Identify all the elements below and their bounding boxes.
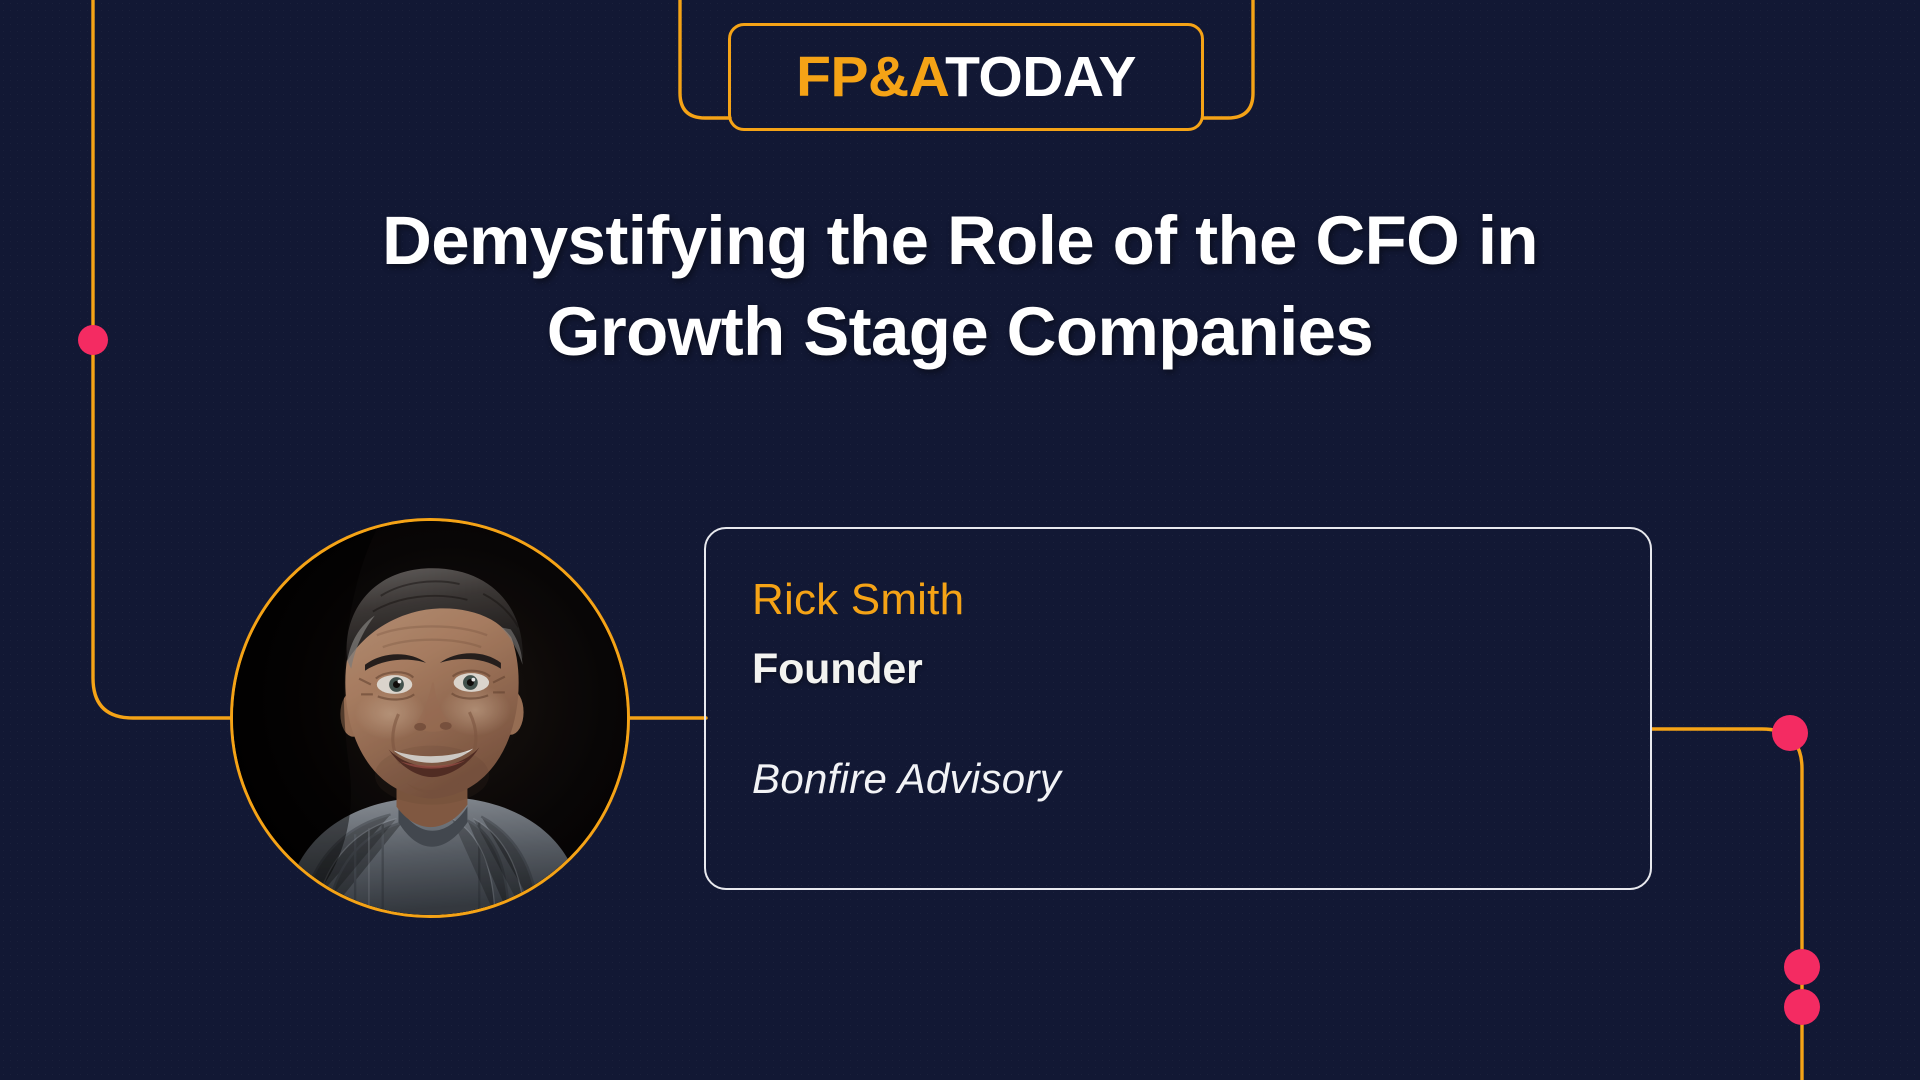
episode-title-line-1: Demystifying the Role of the CFO in [180, 195, 1740, 286]
episode-title: Demystifying the Role of the CFO in Grow… [0, 195, 1920, 377]
badge-left-connector-line [680, 0, 730, 118]
speaker-avatar [230, 518, 630, 918]
speaker-name: Rick Smith [752, 573, 1650, 627]
badge-right-connector-line [1203, 0, 1253, 118]
speaker-info-card: Rick Smith Founder Bonfire Advisory [704, 527, 1652, 890]
speaker-avatar-photo [233, 521, 627, 915]
logo-text: FP&ATODAY [796, 49, 1136, 106]
logo-text-fpa: FP&A [796, 45, 945, 109]
card-right-connector-line [1652, 729, 1802, 1080]
speaker-role: Founder [752, 640, 1650, 698]
episode-title-line-2: Growth Stage Companies [180, 286, 1740, 377]
fpa-today-logo-badge: FP&ATODAY [728, 23, 1204, 131]
avatar-portrait-illustration [233, 521, 627, 915]
speaker-company: Bonfire Advisory [752, 754, 1650, 804]
pink-dot-right-lower-2 [1784, 989, 1820, 1025]
logo-text-today: TODAY [945, 45, 1136, 109]
pink-dot-right-lower-1 [1784, 949, 1820, 985]
pink-dot-right-corner [1772, 715, 1808, 751]
